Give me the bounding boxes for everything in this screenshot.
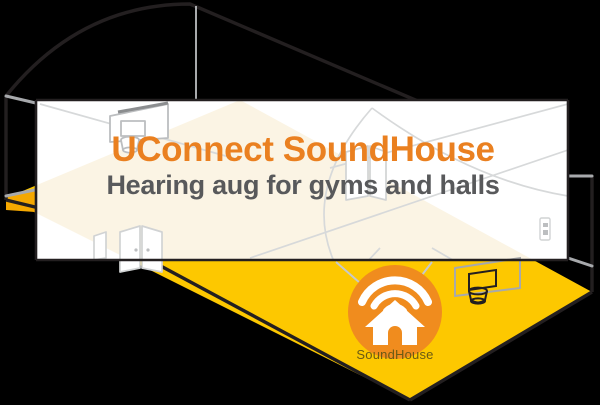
wall-panel-right [540, 218, 550, 240]
door-right-b [370, 146, 386, 200]
door-left-b [142, 226, 162, 272]
door-right-a [346, 146, 368, 200]
wall-panel-small-left [94, 232, 106, 260]
backboard-square-left [121, 121, 145, 136]
wall-switch-led-top [543, 223, 548, 227]
logo-caption: SoundHouse [335, 347, 455, 362]
door-handle-b [146, 248, 149, 251]
gym-hall-illustration [0, 0, 600, 405]
logo-house-door [388, 326, 402, 345]
wall-switch-plate [540, 218, 550, 240]
illustration-canvas: UConnect SoundHouse Hearing aug for gyms… [0, 0, 600, 405]
wall-switch-led-bottom [543, 230, 548, 235]
door-group-right [346, 146, 386, 200]
door-handle-a [134, 248, 137, 251]
hoop-net-bottom-left [123, 147, 137, 152]
soundhouse-logo-icon [348, 265, 442, 359]
